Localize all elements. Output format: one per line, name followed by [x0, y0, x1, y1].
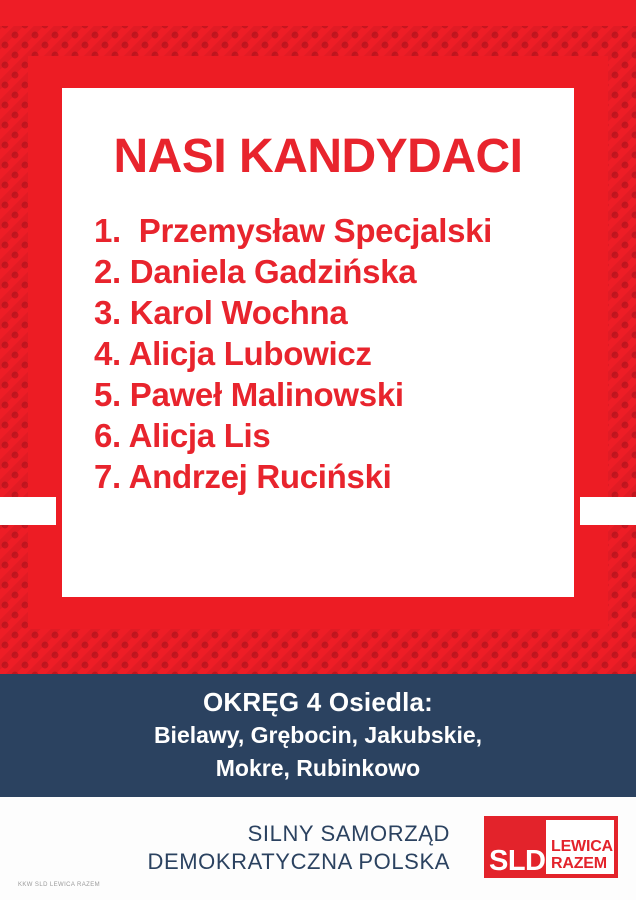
- logo-white-block: LEWICA RAZEM: [546, 820, 614, 874]
- candidate-number: 7.: [94, 456, 121, 497]
- list-item: 2. Daniela Gadzińska: [94, 251, 574, 292]
- candidates-card: NASI KANDYDACI 1. Przemysław Specjalski …: [62, 88, 574, 597]
- district-band: OKRĘG 4 Osiedla: Bielawy, Grębocin, Jaku…: [0, 674, 636, 797]
- candidate-number: 1.: [94, 210, 130, 251]
- candidate-name: Alicja Lis: [129, 417, 271, 454]
- logo-sld-text: SLD: [489, 847, 546, 876]
- sld-lewica-razem-logo: SLD LEWICA RAZEM: [484, 816, 618, 878]
- logo-wordmark-line-1: LEWICA: [551, 838, 613, 855]
- list-item: 1. Przemysław Specjalski: [94, 210, 574, 251]
- list-item: 4. Alicja Lubowicz: [94, 333, 574, 374]
- right-white-notch: [580, 497, 636, 525]
- list-item: 5. Paweł Malinowski: [94, 374, 574, 415]
- logo-wordmark-line-2: RAZEM: [551, 855, 607, 872]
- candidate-name: Karol Wochna: [130, 294, 348, 331]
- list-item: 3. Karol Wochna: [94, 292, 574, 333]
- candidate-number: 3.: [94, 292, 121, 333]
- candidate-name: Paweł Malinowski: [130, 376, 404, 413]
- campaign-slogan: SILNY SAMORZĄD DEMOKRATYCZNA POLSKA: [147, 820, 450, 876]
- logo-wordmark-text: LEWICA RAZEM: [551, 838, 613, 872]
- candidate-name: Przemysław Specjalski: [139, 212, 492, 249]
- page-title: NASI KANDYDACI: [62, 88, 574, 181]
- candidate-name: Alicja Lubowicz: [129, 335, 372, 372]
- list-item: 7. Andrzej Ruciński: [94, 456, 574, 497]
- candidate-number: 5.: [94, 374, 121, 415]
- left-white-notch: [0, 497, 56, 525]
- election-poster: NASI KANDYDACI 1. Przemysław Specjalski …: [0, 0, 636, 900]
- list-item: 6. Alicja Lis: [94, 415, 574, 456]
- district-areas-line-1: Bielawy, Grębocin, Jakubskie,: [0, 718, 636, 751]
- district-title: OKRĘG 4 Osiedla:: [0, 674, 636, 718]
- candidate-number: 6.: [94, 415, 121, 456]
- committee-note: KKW SLD LEWICA RAZEM: [18, 882, 100, 888]
- candidate-list: 1. Przemysław Specjalski 2. Daniela Gadz…: [62, 181, 574, 497]
- candidate-number: 2.: [94, 251, 121, 292]
- footer: SILNY SAMORZĄD DEMOKRATYCZNA POLSKA SLD …: [0, 797, 636, 900]
- candidate-name: Andrzej Ruciński: [129, 458, 392, 495]
- logo-red-block: SLD: [484, 816, 546, 878]
- candidate-name: Daniela Gadzińska: [130, 253, 417, 290]
- candidate-number: 4.: [94, 333, 121, 374]
- top-solid-strip: [0, 0, 636, 26]
- slogan-line-1: SILNY SAMORZĄD: [147, 820, 450, 848]
- slogan-line-2: DEMOKRATYCZNA POLSKA: [147, 848, 450, 876]
- district-areas-line-2: Mokre, Rubinkowo: [0, 751, 636, 784]
